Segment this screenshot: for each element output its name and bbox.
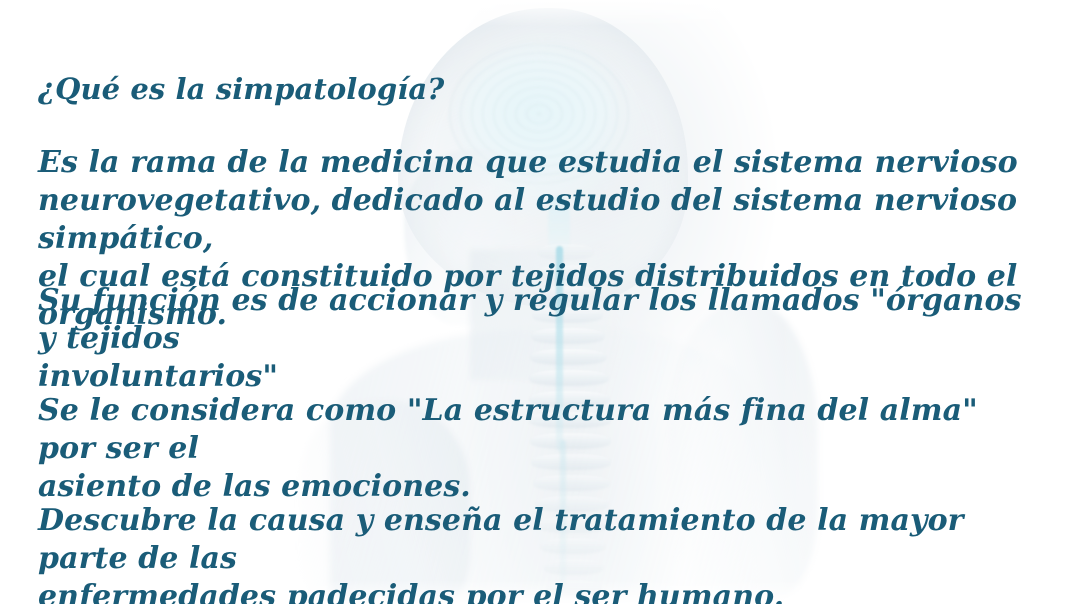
poster-heading: ¿Qué es la simpatología?: [38, 70, 1044, 108]
text-layer: ¿Qué es la simpatología? Es la rama de l…: [0, 0, 1080, 604]
poster-paragraph-2: Su función es de accionar y regular los …: [38, 282, 1044, 396]
poster-canvas: ¿Qué es la simpatología? Es la rama de l…: [0, 0, 1080, 604]
poster-paragraph-4: Descubre la causa y enseña el tratamient…: [38, 502, 1044, 604]
poster-paragraph-3: Se le considera como "La estructura más …: [38, 392, 1044, 506]
